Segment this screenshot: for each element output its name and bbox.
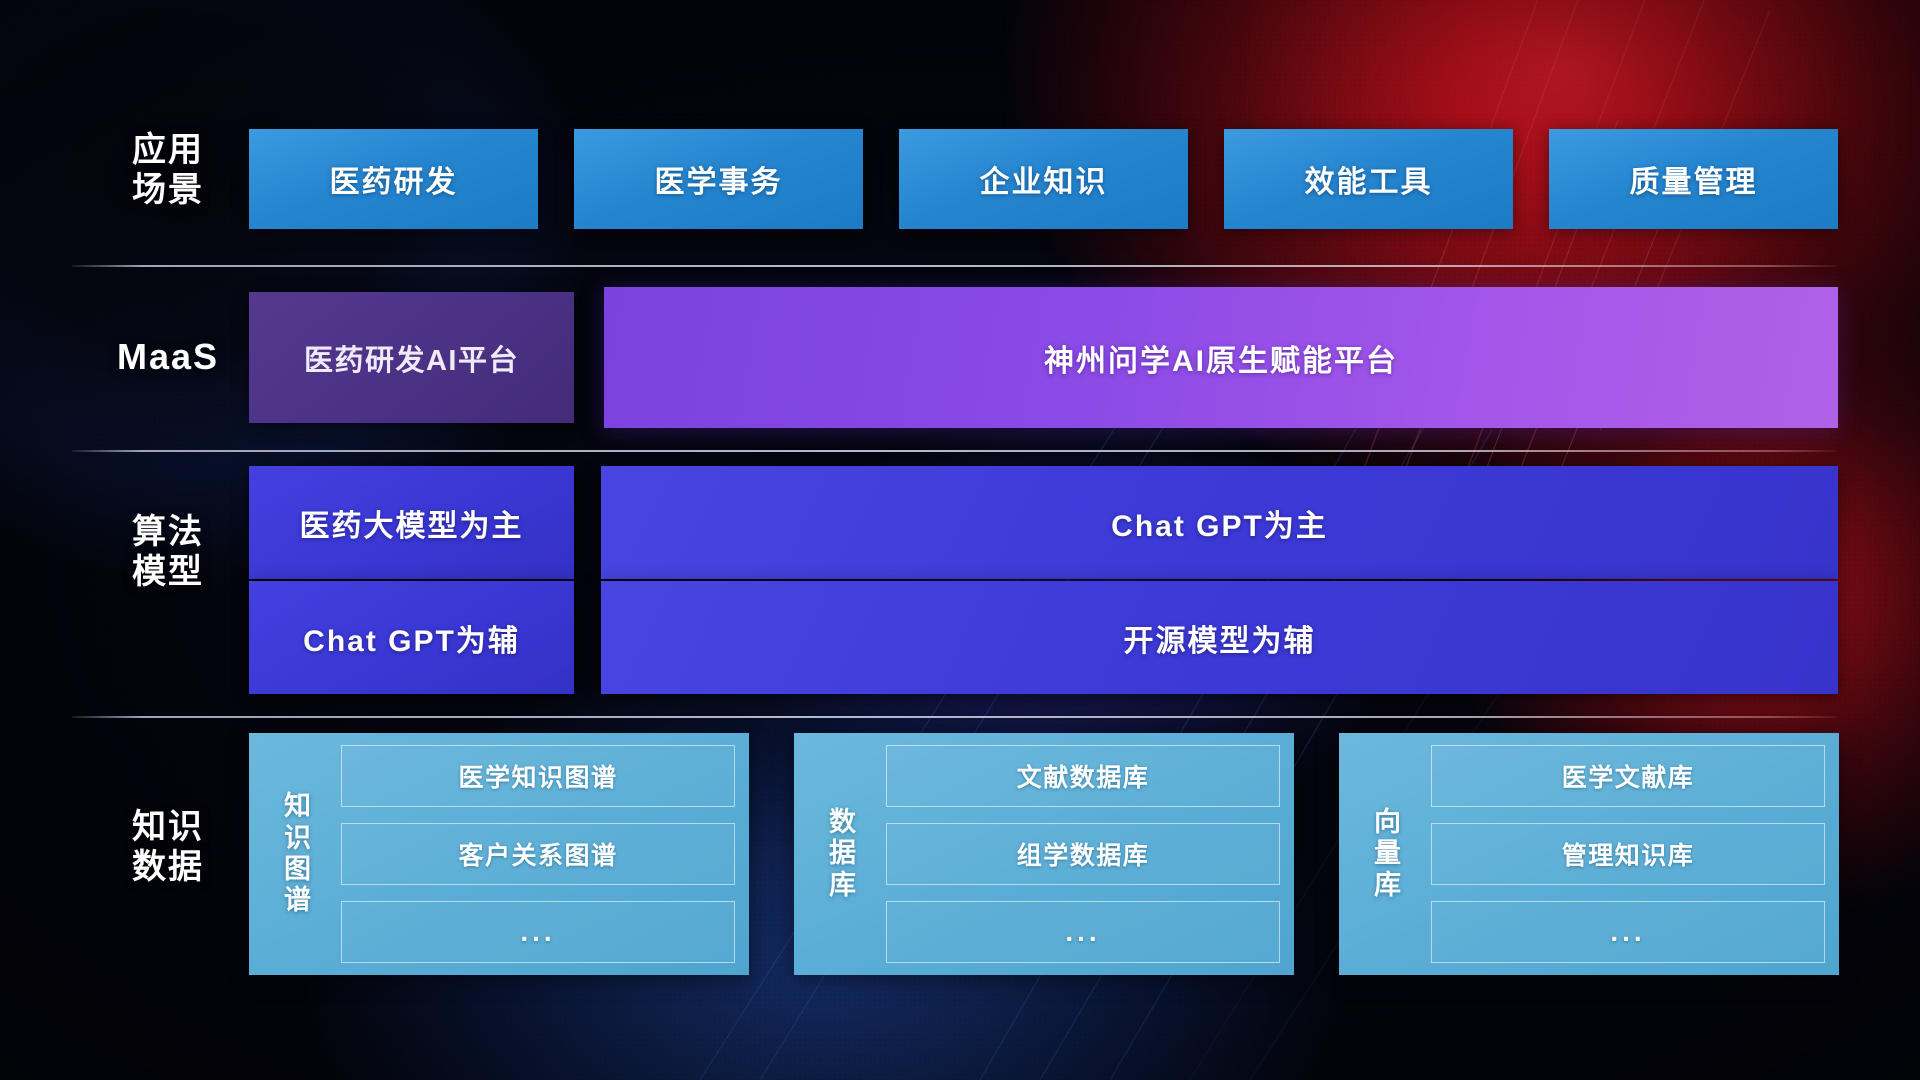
app-box-label: 效能工具 [1305,157,1433,201]
vertical-label-char: 库 [829,870,857,901]
row-label-line: 模型 [88,552,248,592]
maas-right-box[interactable]: 神州问学AI原生赋能平台 [604,287,1838,428]
row-label-line: 数据 [88,847,248,887]
knowledge-panel-vertical-label: 知 识 图 谱 [263,745,333,963]
knowledge-item[interactable]: 组学数据库 [886,823,1280,885]
app-box-label: 医药研发 [330,157,458,201]
architecture-diagram: 应用 场景 医药研发 医学事务 企业知识 效能工具 质量管理 MaaS 医药研发… [0,0,1920,1080]
row-label-knowledge-data: 知识 数据 [88,807,248,887]
app-box-label: 企业知识 [980,157,1108,201]
row-label-algorithm-model: 算法 模型 [88,512,248,592]
algo-right-label: 开源模型为辅 [1124,616,1316,660]
knowledge-panel-items: 文献数据库 组学数据库 ... [878,745,1280,963]
knowledge-panel-items: 医学文献库 管理知识库 ... [1423,745,1825,963]
knowledge-item[interactable]: 医学文献库 [1431,745,1825,807]
vertical-label-char: 谱 [284,885,312,916]
maas-right-label: 神州问学AI原生赋能平台 [1044,336,1398,380]
row-label-line: MaaS [88,336,248,378]
divider-after-algorithm-model [72,716,1837,718]
knowledge-panel-vertical-label: 向 量 库 [1353,745,1423,963]
app-box-label: 质量管理 [1630,157,1758,201]
vertical-label-char: 库 [1374,870,1402,901]
vertical-label-char: 据 [829,838,857,869]
row-label-line: 应用 [88,130,248,170]
knowledge-item-more[interactable]: ... [886,901,1280,963]
vertical-label-char: 数 [829,807,857,838]
knowledge-item[interactable]: 管理知识库 [1431,823,1825,885]
row-label-line: 知识 [88,807,248,847]
maas-left-box[interactable]: 医药研发AI平台 [249,292,574,423]
algo-right-box-1[interactable]: 开源模型为辅 [601,581,1838,694]
algo-left-label: 医药大模型为主 [300,501,524,545]
row-label-application-scenarios: 应用 场景 [88,130,248,210]
vertical-label-char: 量 [1374,838,1402,869]
knowledge-panel-vertical-label: 数 据 库 [808,745,878,963]
knowledge-panel-items: 医学知识图谱 客户关系图谱 ... [333,745,735,963]
knowledge-item-more[interactable]: ... [341,901,735,963]
algo-left-box-0[interactable]: 医药大模型为主 [249,466,574,579]
app-box-4[interactable]: 质量管理 [1549,129,1838,229]
divider-after-maas [72,450,1837,452]
divider-after-application-scenarios [72,265,1837,267]
algo-right-box-0[interactable]: Chat GPT为主 [601,466,1838,579]
knowledge-item[interactable]: 医学知识图谱 [341,745,735,807]
knowledge-item[interactable]: 文献数据库 [886,745,1280,807]
knowledge-panel-knowledge-graph[interactable]: 知 识 图 谱 医学知识图谱 客户关系图谱 ... [249,733,749,975]
algo-left-box-1[interactable]: Chat GPT为辅 [249,581,574,694]
vertical-label-char: 知 [284,791,312,822]
vertical-label-char: 向 [1374,807,1402,838]
vertical-label-char: 识 [284,823,312,854]
vertical-label-char: 图 [284,854,312,885]
maas-left-label: 医药研发AI平台 [304,337,519,379]
knowledge-panel-vector-store[interactable]: 向 量 库 医学文献库 管理知识库 ... [1339,733,1839,975]
algo-right-label: Chat GPT为主 [1111,501,1328,545]
row-label-line: 场景 [88,170,248,210]
knowledge-panel-database[interactable]: 数 据 库 文献数据库 组学数据库 ... [794,733,1294,975]
knowledge-item[interactable]: 客户关系图谱 [341,823,735,885]
row-label-line: 算法 [88,512,248,552]
algo-left-label: Chat GPT为辅 [303,616,520,660]
app-box-label: 医学事务 [655,157,783,201]
app-box-3[interactable]: 效能工具 [1224,129,1513,229]
row-label-maas: MaaS [88,336,248,378]
knowledge-item-more[interactable]: ... [1431,901,1825,963]
app-box-0[interactable]: 医药研发 [249,129,538,229]
app-box-2[interactable]: 企业知识 [899,129,1188,229]
app-box-1[interactable]: 医学事务 [574,129,863,229]
